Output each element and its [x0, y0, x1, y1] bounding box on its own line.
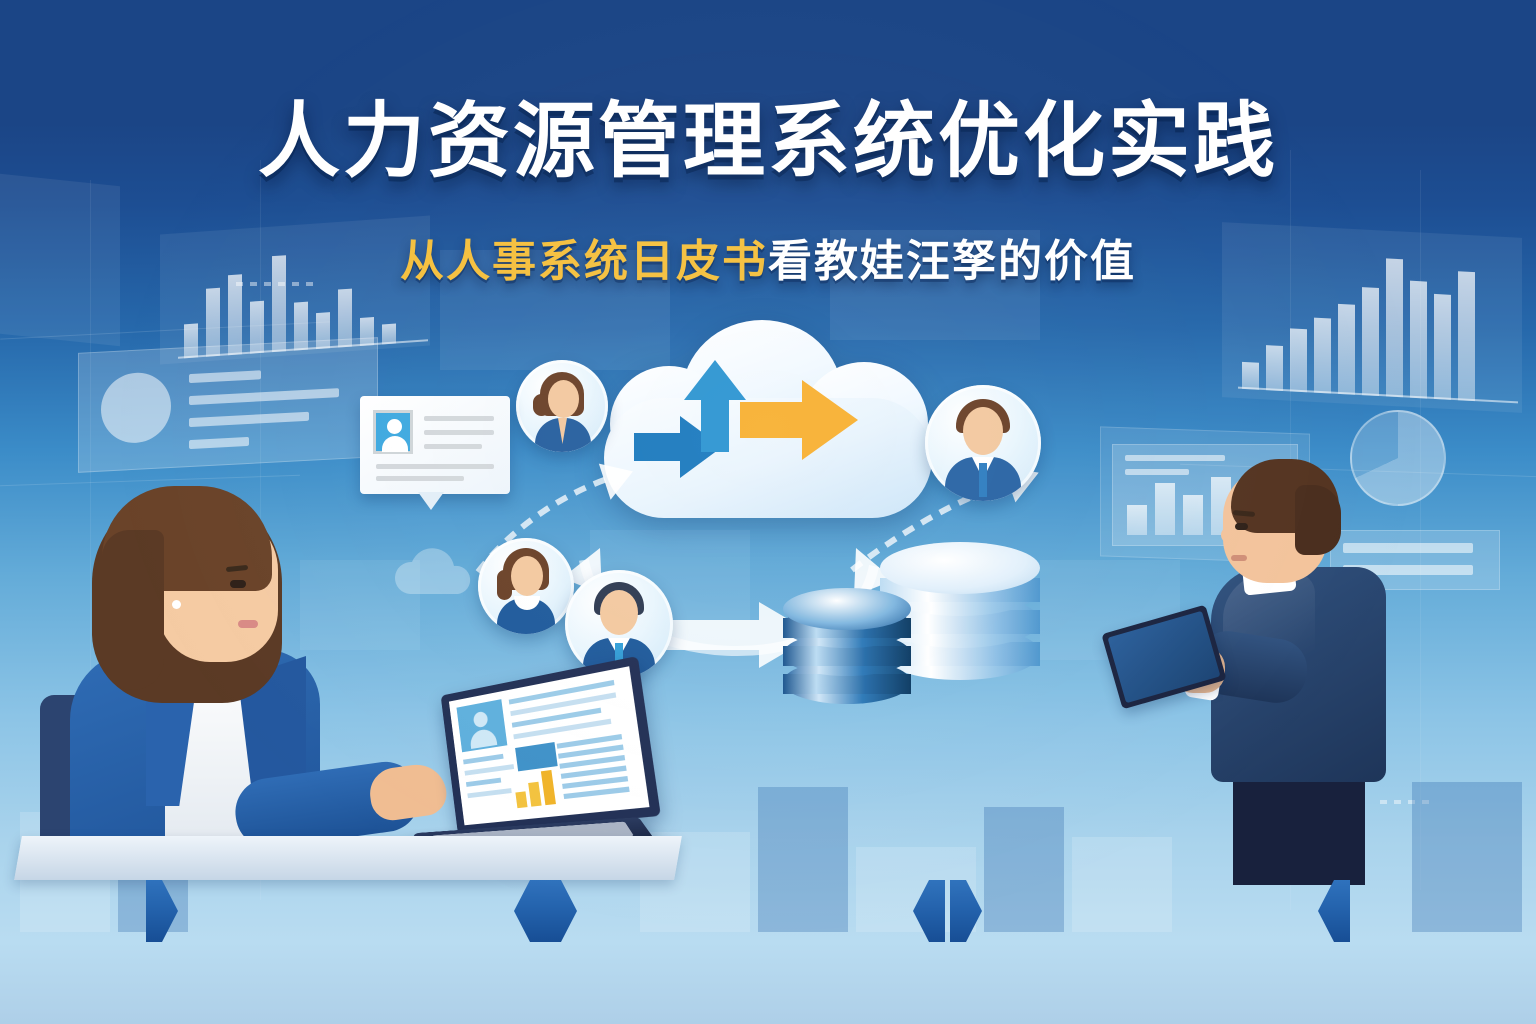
bg-building — [984, 807, 1064, 932]
bg-building — [758, 787, 848, 932]
poster-canvas: 人力资源管理系统优化实践 从人事系统日皮书看教娃汪孥的价值 — [0, 0, 1536, 1024]
hr-dashboard-screen — [449, 666, 650, 825]
ribbon-1-label: 敎琀蹚合佳升 — [244, 889, 448, 934]
arrow-up-blue-icon — [684, 360, 746, 452]
bg-profile-card-left — [78, 337, 378, 473]
bg-avatar-icon — [101, 371, 171, 445]
card-avatar-icon — [373, 410, 413, 454]
avatar-bubble-woman-top — [516, 360, 608, 452]
database-stack-front — [783, 588, 911, 724]
subtitle-highlight: 从人事系统日皮书 — [400, 237, 768, 286]
desk — [14, 836, 682, 880]
page-title: 人力资源管理系统优化实践 — [0, 74, 1536, 193]
subtitle-rest: 看教娃汪孥的价值 — [768, 237, 1136, 286]
page-subtitle: 从人事系统日皮书看教娃汪孥的价值 — [0, 225, 1536, 289]
avatar-bubble-man-right — [925, 385, 1041, 501]
